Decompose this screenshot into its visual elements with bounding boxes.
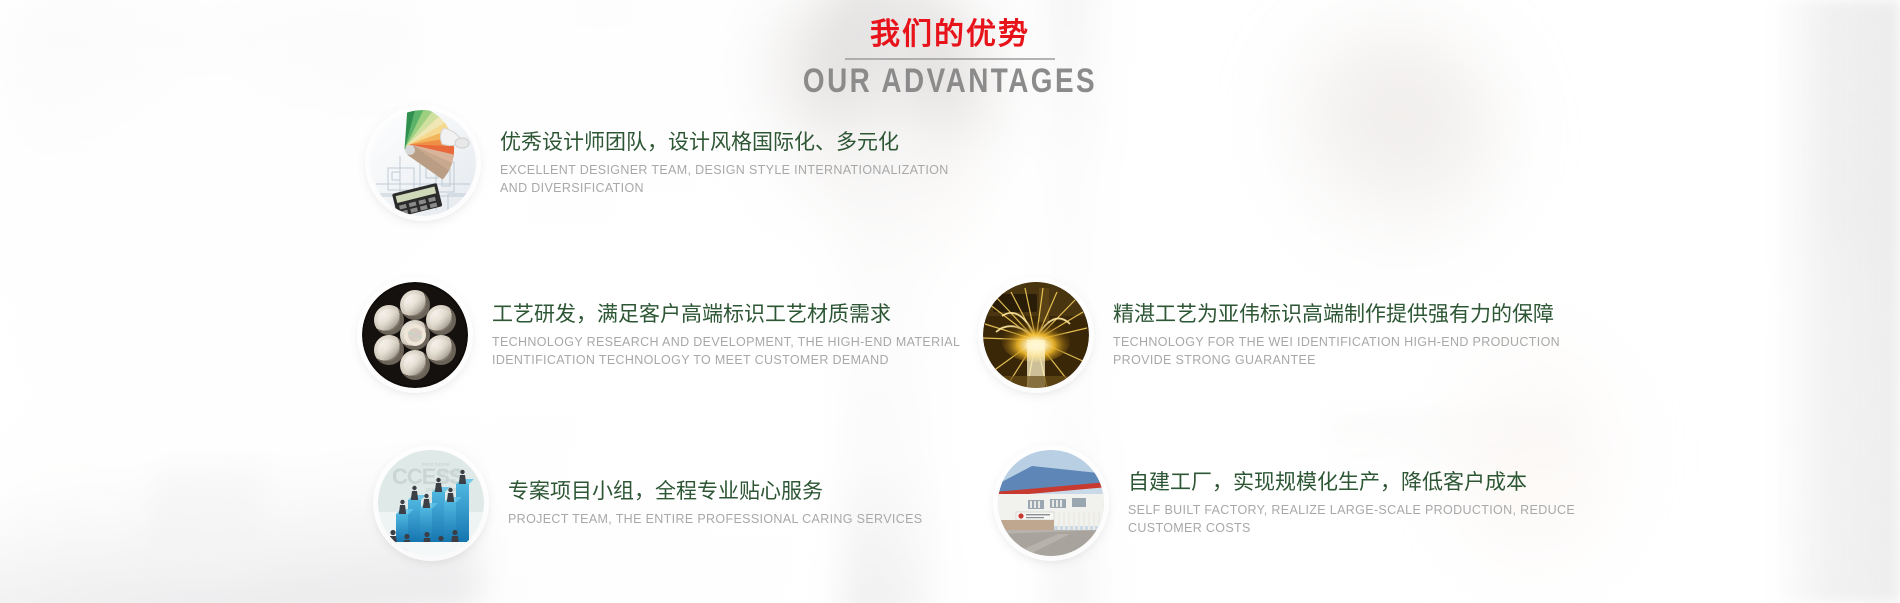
advantage-texts: 精湛工艺为亚伟标识高端制作提供强有力的保障 TECHNOLOGY FOR THE…: [1113, 301, 1560, 369]
advantage-item-craftsmanship[interactable]: 精湛工艺为亚伟标识高端制作提供强有力的保障 TECHNOLOGY FOR THE…: [983, 282, 1560, 388]
success-bar-chart-people-icon: CCESS trend businecorporate financegraph…: [378, 450, 484, 556]
laser-cutting-sparks-icon: [983, 282, 1089, 388]
advantage-title-cn: 自建工厂，实现规模化生产，降低客户成本: [1128, 469, 1575, 495]
advantage-title-en: PROJECT TEAM, THE ENTIRE PROFESSIONAL CA…: [508, 510, 922, 528]
page-title-cn: 我们的优势: [0, 18, 1900, 51]
advantage-title-cn: 优秀设计师团队，设计风格国际化、多元化: [500, 129, 949, 155]
advantage-title-cn: 专案项目小组，全程专业贴心服务: [508, 478, 922, 504]
advantage-title-en: SELF BUILT FACTORY, REALIZE LARGE-SCALE …: [1128, 501, 1575, 537]
advantage-title-cn: 精湛工艺为亚伟标识高端制作提供强有力的保障: [1113, 301, 1560, 327]
factory-building-icon: [998, 450, 1104, 556]
advantage-texts: 自建工厂，实现规模化生产，降低客户成本 SELF BUILT FACTORY, …: [1128, 469, 1575, 537]
advantage-title-cn: 工艺研发，满足客户高端标识工艺材质需求: [492, 301, 960, 327]
advantage-item-self-built-factory[interactable]: 自建工厂，实现规模化生产，降低客户成本 SELF BUILT FACTORY, …: [998, 450, 1575, 556]
svg-text:corporate: corporate: [440, 470, 461, 476]
section-heading: 我们的优势 OUR ADVANTAGES: [0, 18, 1900, 101]
svg-text:trend busine: trend busine: [422, 462, 450, 468]
color-swatch-blueprint-icon: [370, 110, 476, 216]
advantages-section: 我们的优势 OUR ADVANTAGES: [0, 0, 1900, 603]
advantage-item-project-team[interactable]: CCESS trend businecorporate financegraph…: [378, 450, 922, 556]
heading-divider: [845, 58, 1055, 60]
svg-text:finance: finance: [440, 478, 456, 484]
advantage-texts: 工艺研发，满足客户高端标识工艺材质需求 TECHNOLOGY RESEARCH …: [492, 301, 960, 369]
advantage-item-designer-team[interactable]: 优秀设计师团队，设计风格国际化、多元化 EXCELLENT DESIGNER T…: [370, 110, 949, 216]
advantage-texts: 优秀设计师团队，设计风格国际化、多元化 EXCELLENT DESIGNER T…: [500, 129, 949, 197]
advantages-content: 我们的优势 OUR ADVANTAGES: [0, 0, 1900, 603]
advantage-item-technology-rd[interactable]: 工艺研发，满足客户高端标识工艺材质需求 TECHNOLOGY RESEARCH …: [362, 282, 960, 388]
advantage-title-en: TECHNOLOGY RESEARCH AND DEVELOPMENT, THE…: [492, 333, 960, 369]
metal-tubes-icon: [362, 282, 468, 388]
advantage-texts: 专案项目小组，全程专业贴心服务 PROJECT TEAM, THE ENTIRE…: [508, 478, 922, 527]
advantage-title-en: TECHNOLOGY FOR THE WEI IDENTIFICATION HI…: [1113, 333, 1560, 369]
advantage-title-en: EXCELLENT DESIGNER TEAM, DESIGN STYLE IN…: [500, 161, 949, 197]
page-title-en: OUR ADVANTAGES: [171, 62, 1729, 101]
